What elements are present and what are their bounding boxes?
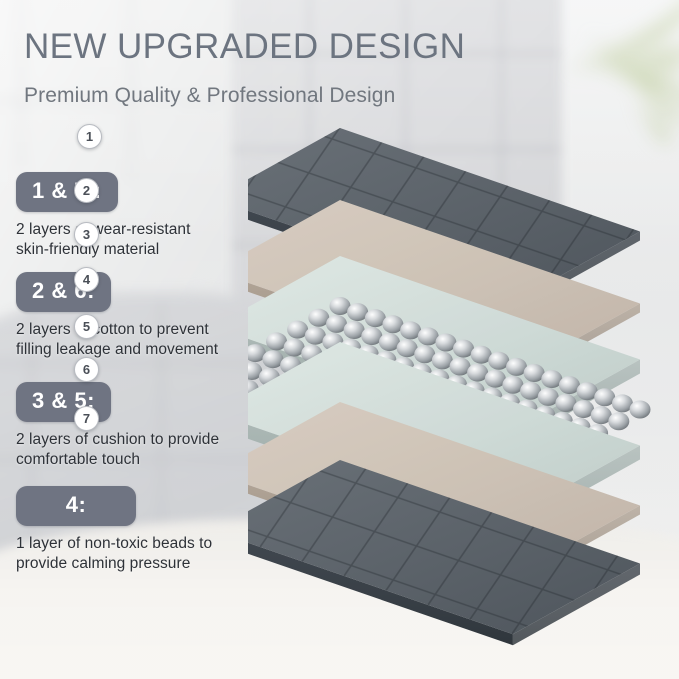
feature-description: 2 layers of cotton to prevent filling le…: [16, 320, 218, 360]
layer-callout-3: 3: [74, 222, 99, 247]
feature-description: 2 layers of cushion to provide comfortab…: [16, 430, 219, 470]
feature-line: comfortable touch: [16, 450, 219, 470]
feature-badge: 1 & 7 :: [16, 172, 118, 212]
feature-block-3: 3 & 5: 2 layers of cushion to provide co…: [16, 382, 219, 470]
exploded-layer-diagram: [248, 110, 679, 655]
feature-badge: 4:: [16, 486, 136, 526]
layer-callout-7: 7: [74, 406, 99, 431]
layer-callout-5: 5: [74, 314, 99, 339]
layer-callout-6: 6: [74, 357, 99, 382]
feature-description: 2 layers of wear-resistant skin-friendly…: [16, 220, 190, 260]
layer-callout-2: 2: [74, 178, 99, 203]
feature-line: provide calming pressure: [16, 554, 212, 574]
feature-block-2: 2 & 6: 2 layers of cotton to prevent fil…: [16, 272, 218, 360]
feature-line: filling leakage and movement: [16, 340, 218, 360]
feature-line: 2 layers of cotton to prevent: [16, 320, 218, 340]
feature-block-4: 4: 1 layer of non-toxic beads to provide…: [16, 486, 212, 574]
layer-stack-svg: [248, 110, 679, 670]
feature-line: 2 layers of cushion to provide: [16, 430, 219, 450]
feature-description: 1 layer of non-toxic beads to provide ca…: [16, 534, 212, 574]
feature-line: 2 layers of wear-resistant: [16, 220, 190, 240]
page-title: NEW UPGRADED DESIGN: [24, 27, 465, 67]
page-subtitle: Premium Quality & Professional Design: [24, 84, 395, 108]
layer-callout-4: 4: [74, 267, 99, 292]
feature-block-1: 1 & 7 : 2 layers of wear-resistant skin-…: [16, 172, 190, 260]
product-infographic: NEW UPGRADED DESIGN Premium Quality & Pr…: [0, 0, 679, 679]
feature-line: skin-friendly material: [16, 240, 190, 260]
feature-line: 1 layer of non-toxic beads to: [16, 534, 212, 554]
layer-callout-1: 1: [77, 124, 102, 149]
